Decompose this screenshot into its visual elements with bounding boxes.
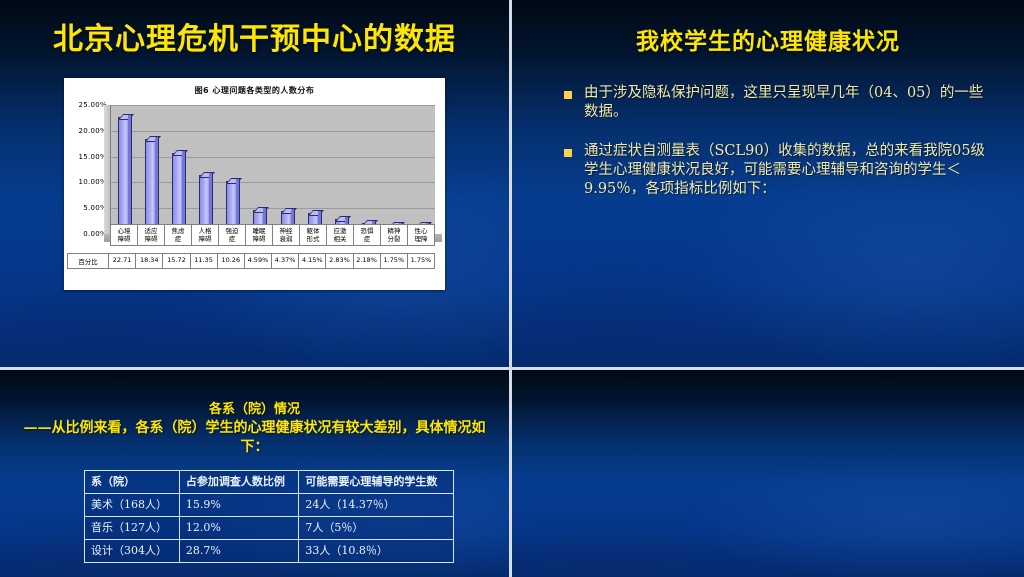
list-item: 由于涉及隐私保护问题，这里只呈现早几年（04、05）的一些数据。 (564, 84, 996, 122)
x-axis-tick: 人格障碍 (192, 225, 219, 245)
table-cell: 音乐（127人） (85, 517, 180, 540)
column-header: 系（院） (85, 471, 180, 494)
x-axis-tick: 焦虑症 (165, 225, 192, 245)
chart-value-cell: 4.37% (272, 254, 299, 268)
x-axis-tick: 心境障碍 (111, 225, 138, 245)
table-row: 音乐（127人）12.0%7人（5％） (85, 517, 454, 540)
x-axis-tick: 性心理障 (408, 225, 435, 245)
bar-slot (354, 105, 381, 234)
list-item: 通过症状自测量表（SCL90）收集的数据，总的来看我院05级学生心理健康状况良好… (564, 142, 996, 199)
column-header: 可能需要心理辅导的学生数 (299, 471, 454, 494)
page-title: 北京心理危机干预中心的数据 (0, 14, 509, 58)
table-cell: 28.7% (179, 540, 298, 563)
chart-title: 图6 心理问题各类型的人数分布 (64, 78, 445, 96)
column-header: 占参加调查人数比例 (179, 471, 298, 494)
x-axis-tick: 应激相关 (327, 225, 354, 245)
slide-grid: 北京心理危机干预中心的数据 图6 心理问题各类型的人数分布 0.00%5.00%… (0, 0, 1024, 577)
bullet-list: 由于涉及隐私保护问题，这里只呈现早几年（04、05）的一些数据。 通过症状自测量… (564, 84, 996, 199)
chart-value-cell: 1.75% (381, 254, 408, 268)
x-axis-tick: 神经衰弱 (273, 225, 300, 245)
square-bullet-icon (564, 149, 572, 157)
x-axis-tick: 躯体形式 (300, 225, 327, 245)
bar-side-face (155, 136, 159, 229)
chart-value-cell: 4.15% (299, 254, 326, 268)
chart-value-cell: 2.18% (354, 254, 381, 268)
bar-slot (110, 105, 137, 234)
bar-slot (137, 105, 164, 234)
page-subtitle: ——从比例来看，各系（院）学生的心理健康状况有较大差别，具体情况如下： (18, 419, 491, 457)
x-axis-tick: 睡眠障碍 (246, 225, 273, 245)
chart-value-cell: 11.35 (191, 254, 218, 268)
slide-top-left[interactable]: 北京心理危机干预中心的数据 图6 心理问题各类型的人数分布 0.00%5.00%… (0, 0, 509, 367)
table-cell: 美术（168人） (85, 494, 180, 517)
chart-value-cell: 4.59% (245, 254, 272, 268)
chart-value-cell: 1.75% (408, 254, 435, 268)
bar-side-face (209, 172, 213, 229)
table-cell: 24人（14.37％） (299, 494, 454, 517)
x-axis-category-labels: 心境障碍适应障碍焦虑症人格障碍强迫症睡眠障碍神经衰弱躯体形式应激相关恐惧症精神分… (110, 224, 435, 246)
panel-divider-vertical-top (509, 0, 512, 367)
bar-side-face (182, 150, 186, 229)
bar-slot (381, 105, 408, 234)
y-axis-tick: 20.00% (79, 127, 108, 135)
bar-side-face (236, 178, 240, 229)
bar-slot (164, 105, 191, 234)
bar-slot (218, 105, 245, 234)
department-table: 系（院）占参加调查人数比例可能需要心理辅导的学生数美术（168人）15.9%24… (84, 470, 454, 563)
table-row: 设计（304人）28.7%33人（10.8％） (85, 540, 454, 563)
chart-value-table: 百分比 22.7118.3415.7211.3510.264.59%4.37%4… (67, 253, 435, 269)
slide-top-right[interactable]: 我校学生的心理健康状况 由于涉及隐私保护问题，这里只呈现早几年（04、05）的一… (512, 0, 1024, 367)
x-axis-tick: 适应障碍 (138, 225, 165, 245)
department-table-body: 系（院）占参加调查人数比例可能需要心理辅导的学生数美术（168人）15.9%24… (85, 471, 454, 563)
bar-slot (191, 105, 218, 234)
chart-image: 图6 心理问题各类型的人数分布 0.00%5.00%10.00%15.00%20… (64, 78, 445, 290)
x-axis-tick: 精神分裂 (381, 225, 408, 245)
panel-divider-horizontal (0, 367, 1024, 370)
y-axis-tick: 25.00% (79, 101, 108, 109)
y-axis-tick: 15.00% (79, 153, 108, 161)
table-row: 美术（168人）15.9%24人（14.37％） (85, 494, 454, 517)
panel-divider-vertical-bottom (509, 370, 512, 577)
bullet-text: 通过症状自测量表（SCL90）收集的数据，总的来看我院05级学生心理健康状况良好… (584, 142, 996, 199)
bar-slot (300, 105, 327, 234)
slide-bottom-right[interactable]: 系（院）情况占参加调查人数比例可能需要心理辅导的学生数美术（发放220份回收21… (512, 370, 1024, 577)
table-header-row: 系（院）占参加调查人数比例可能需要心理辅导的学生数 (85, 471, 454, 494)
bar-series (110, 105, 435, 234)
chart-value-cell: 2.83% (326, 254, 353, 268)
slide-bottom-left[interactable]: 各系（院）情况 ——从比例来看，各系（院）学生的心理健康状况有较大差别，具体情况… (0, 370, 509, 577)
y-axis: 0.00%5.00%10.00%15.00%20.00%25.00% (64, 101, 109, 241)
table-cell: 33人（10.8％） (299, 540, 454, 563)
x-axis-tick: 强迫症 (219, 225, 246, 245)
page-title: 各系（院）情况 (0, 398, 509, 417)
value-row-header: 百分比 (68, 254, 109, 268)
bar-slot (272, 105, 299, 234)
chart-value-cell: 15.72 (163, 254, 190, 268)
square-bullet-icon (564, 91, 572, 99)
x-axis-tick: 恐惧症 (354, 225, 381, 245)
bullet-text: 由于涉及隐私保护问题，这里只呈现早几年（04、05）的一些数据。 (584, 84, 996, 122)
bar-slot (408, 105, 435, 234)
chart-value-cell: 18.34 (136, 254, 163, 268)
bar-slot (327, 105, 354, 234)
y-axis-tick: 10.00% (79, 178, 108, 186)
chart-value-cell: 22.71 (109, 254, 136, 268)
bar (145, 139, 156, 234)
chart-value-cell: 10.26 (218, 254, 245, 268)
page-title: 我校学生的心理健康状况 (512, 22, 1024, 56)
table-cell: 12.0% (179, 517, 298, 540)
table-cell: 7人（5％） (299, 517, 454, 540)
bar (118, 117, 129, 234)
bar (172, 153, 183, 234)
table-cell: 设计（304人） (85, 540, 180, 563)
bar-side-face (128, 114, 132, 229)
table-cell: 15.9% (179, 494, 298, 517)
bar-slot (245, 105, 272, 234)
